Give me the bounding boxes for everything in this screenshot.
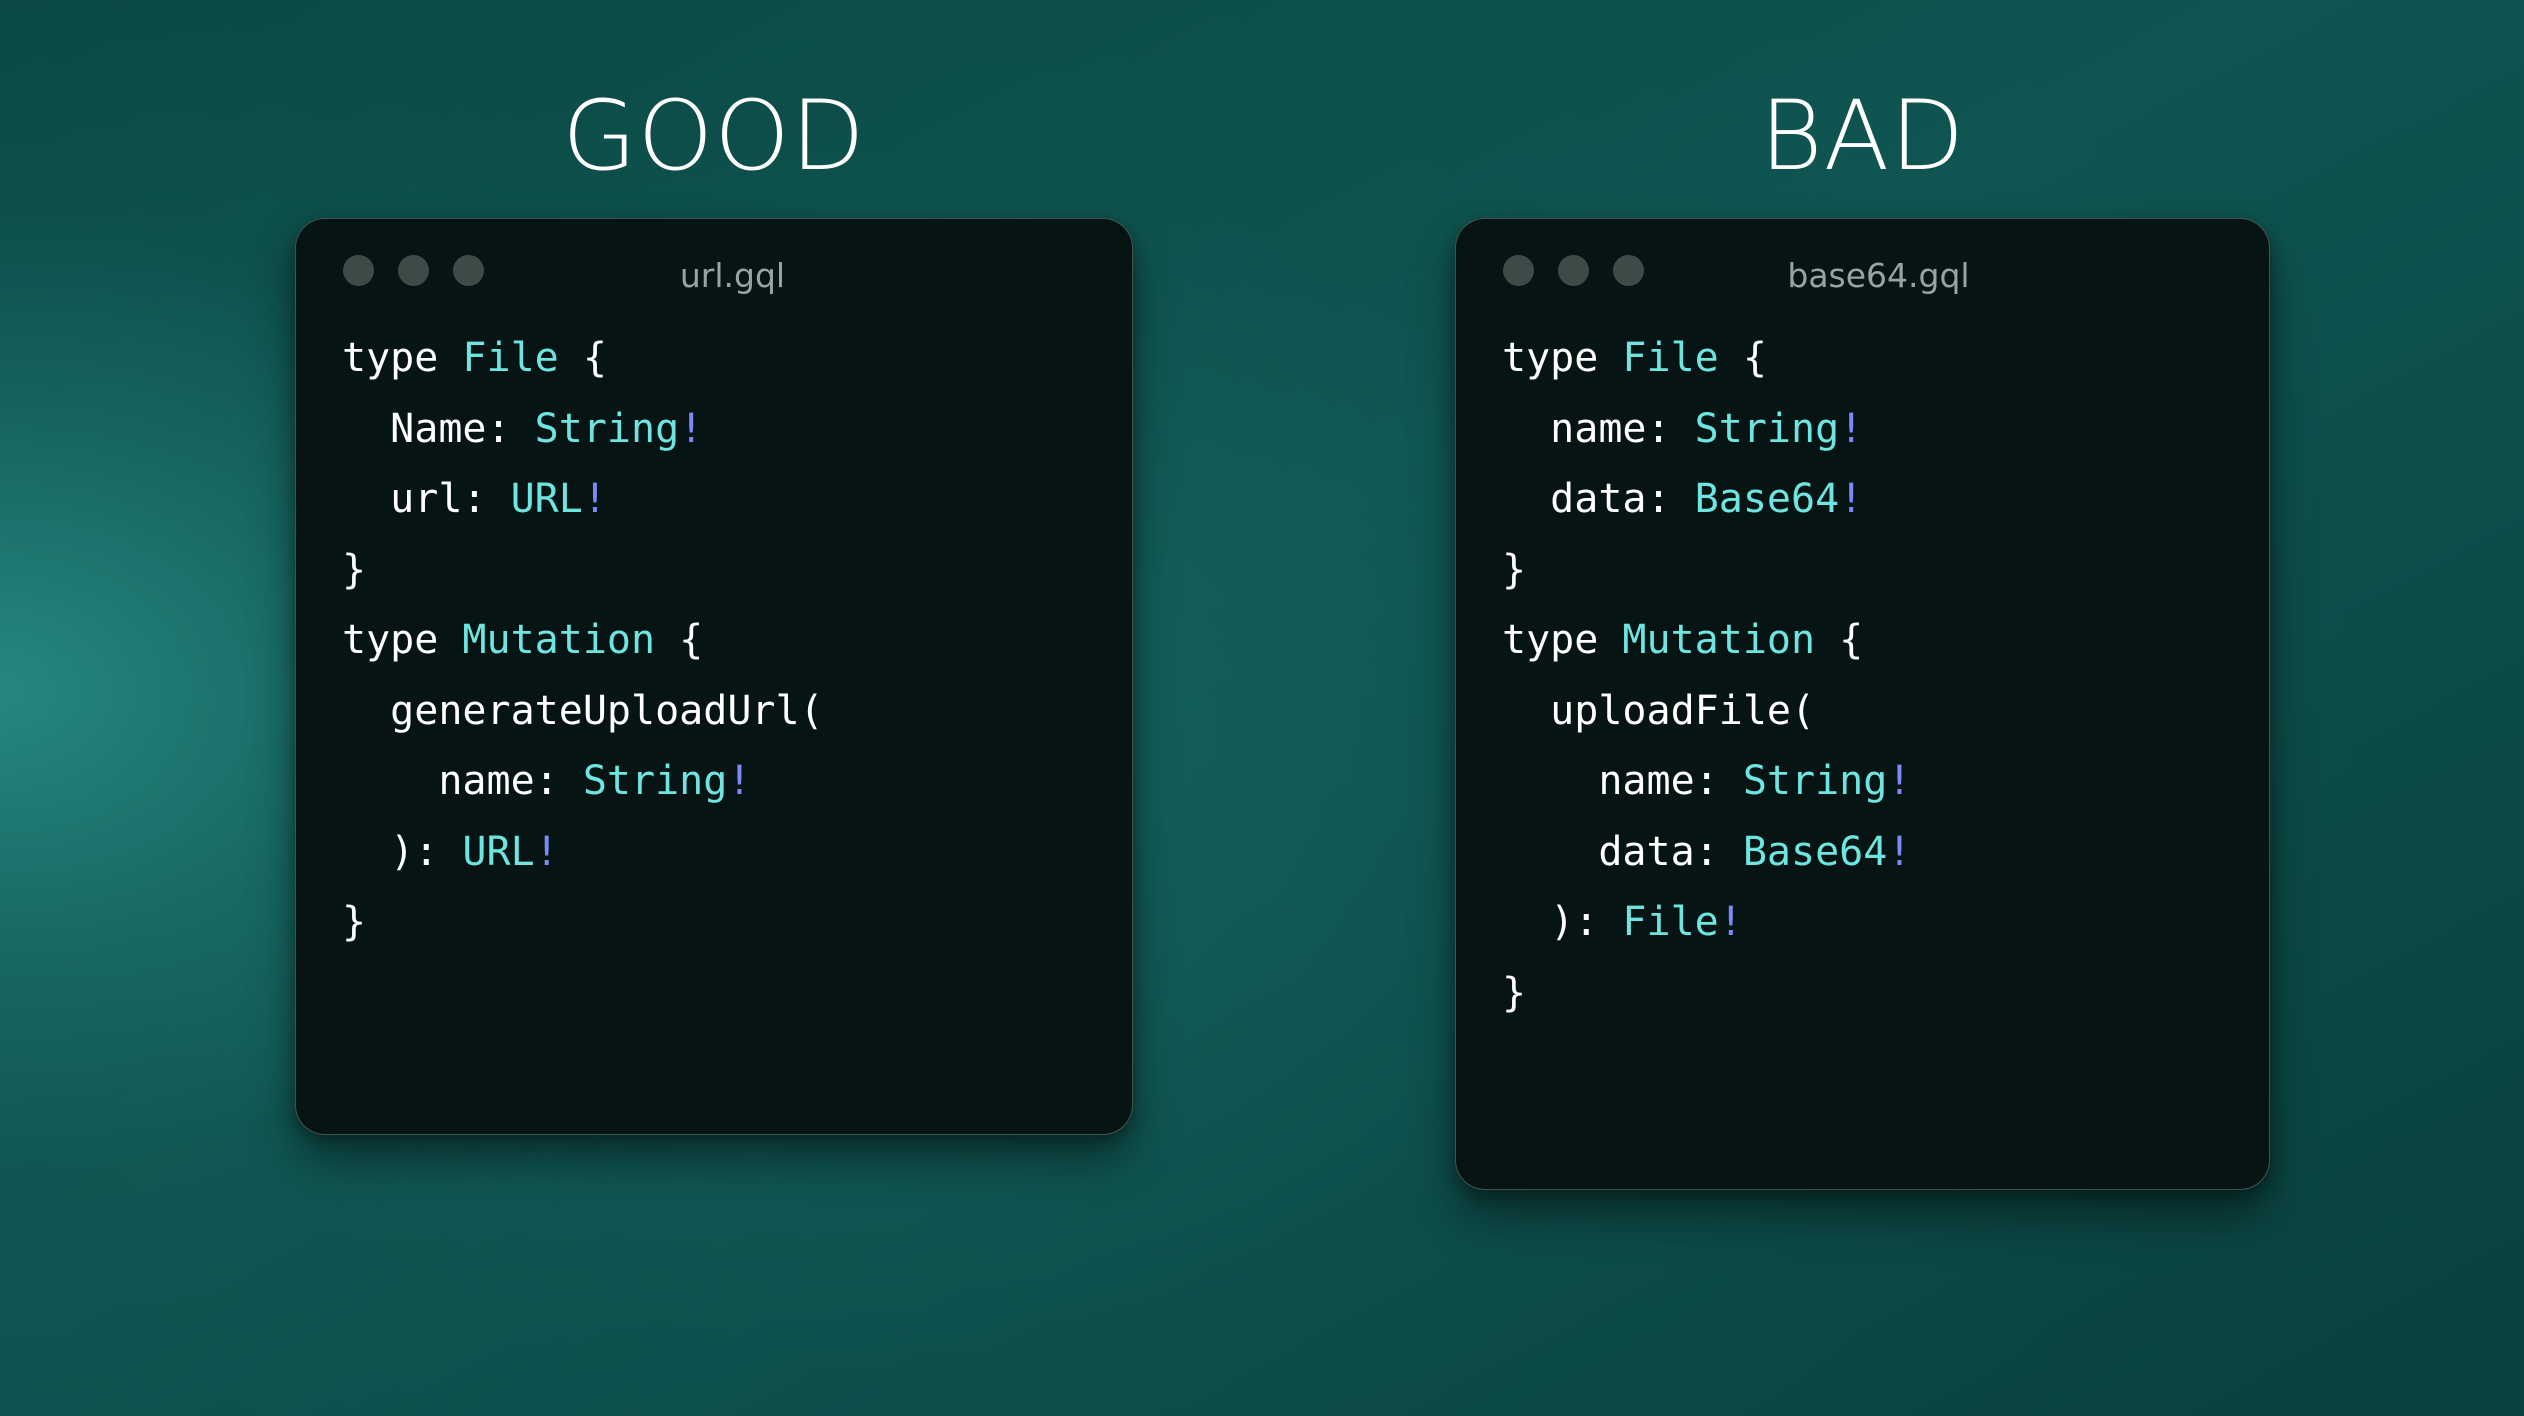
- code-token-type: Mutation: [462, 617, 655, 663]
- code-token-type: String: [535, 406, 680, 452]
- code-token-plain: [438, 617, 462, 663]
- code-token-plain: ):: [342, 829, 462, 875]
- code-line: Name: String!: [342, 394, 1132, 465]
- code-line: generateUploadUrl(: [342, 676, 1132, 747]
- code-line: }: [342, 887, 1132, 958]
- code-line: url: URL!: [342, 464, 1132, 535]
- code-token-type: URL: [462, 829, 534, 875]
- code-token-plain: [1598, 335, 1622, 381]
- code-token-plain: generateUploadUrl(: [342, 688, 824, 734]
- code-token-type: String: [583, 758, 728, 804]
- code-token-keyword: type: [342, 617, 438, 663]
- code-token-bang: !: [583, 476, 607, 522]
- code-token-plain: {: [559, 335, 607, 381]
- code-token-plain: data:: [1502, 476, 1695, 522]
- code-token-keyword: type: [1502, 335, 1598, 381]
- code-token-plain: }: [342, 547, 366, 593]
- code-token-type: File: [1622, 899, 1718, 945]
- code-line: ): File!: [1502, 887, 2269, 958]
- code-token-type: String: [1743, 758, 1888, 804]
- code-line: }: [1502, 958, 2269, 1029]
- code-token-plain: }: [1502, 970, 1526, 1016]
- code-token-bang: !: [727, 758, 751, 804]
- code-line: type Mutation {: [1502, 605, 2269, 676]
- code-line: name: String!: [1502, 394, 2269, 465]
- code-token-bang: !: [679, 406, 703, 452]
- code-line: }: [1502, 535, 2269, 606]
- code-token-type: File: [1622, 335, 1718, 381]
- code-token-bang: !: [1719, 899, 1743, 945]
- code-token-plain: url:: [342, 476, 511, 522]
- code-token-plain: {: [655, 617, 703, 663]
- code-token-plain: ):: [1502, 899, 1622, 945]
- code-token-bang: !: [1887, 758, 1911, 804]
- code-token-keyword: type: [342, 335, 438, 381]
- code-token-keyword: type: [1502, 617, 1598, 663]
- code-token-type: File: [462, 335, 558, 381]
- code-token-plain: {: [1719, 335, 1767, 381]
- code-token-bang: !: [1839, 476, 1863, 522]
- window-filename-bad: base64.gql: [1456, 259, 2270, 292]
- code-token-plain: }: [1502, 547, 1526, 593]
- code-window-bad: base64.gql type File { name: String! dat…: [1455, 218, 2270, 1190]
- code-token-type: Base64: [1743, 829, 1888, 875]
- code-token-plain: }: [342, 899, 366, 945]
- code-token-plain: Name:: [342, 406, 535, 452]
- code-token-plain: name:: [1502, 758, 1743, 804]
- column-heading-good: GOOD: [295, 88, 1133, 184]
- code-line: data: Base64!: [1502, 464, 2269, 535]
- code-window-good: url.gql type File { Name: String! url: U…: [295, 218, 1133, 1135]
- code-token-plain: data:: [1502, 829, 1743, 875]
- window-filename-good: url.gql: [296, 259, 1133, 292]
- window-titlebar-bad: base64.gql: [1456, 219, 2269, 315]
- code-token-bang: !: [1839, 406, 1863, 452]
- code-token-plain: name:: [342, 758, 583, 804]
- comparison-canvas: GOOD url.gql type File { Name: String! u…: [0, 0, 2524, 1416]
- code-line: ): URL!: [342, 817, 1132, 888]
- code-token-type: URL: [511, 476, 583, 522]
- code-token-plain: {: [1815, 617, 1863, 663]
- code-line: name: String!: [342, 746, 1132, 817]
- code-line: name: String!: [1502, 746, 2269, 817]
- code-line: uploadFile(: [1502, 676, 2269, 747]
- code-line: type Mutation {: [342, 605, 1132, 676]
- code-token-plain: [438, 335, 462, 381]
- code-token-type: Mutation: [1622, 617, 1815, 663]
- code-token-bang: !: [535, 829, 559, 875]
- column-heading-bad: BAD: [1455, 88, 2270, 184]
- code-token-plain: name:: [1502, 406, 1695, 452]
- code-line: data: Base64!: [1502, 817, 2269, 888]
- code-token-type: Base64: [1695, 476, 1840, 522]
- code-token-bang: !: [1887, 829, 1911, 875]
- window-titlebar-good: url.gql: [296, 219, 1132, 315]
- code-line: type File {: [342, 323, 1132, 394]
- code-token-type: String: [1695, 406, 1840, 452]
- code-block-good: type File { Name: String! url: URL!}type…: [296, 315, 1132, 958]
- code-token-plain: uploadFile(: [1502, 688, 1815, 734]
- code-block-bad: type File { name: String! data: Base64!}…: [1456, 315, 2269, 1028]
- code-line: type File {: [1502, 323, 2269, 394]
- code-token-plain: [1598, 617, 1622, 663]
- code-line: }: [342, 535, 1132, 606]
